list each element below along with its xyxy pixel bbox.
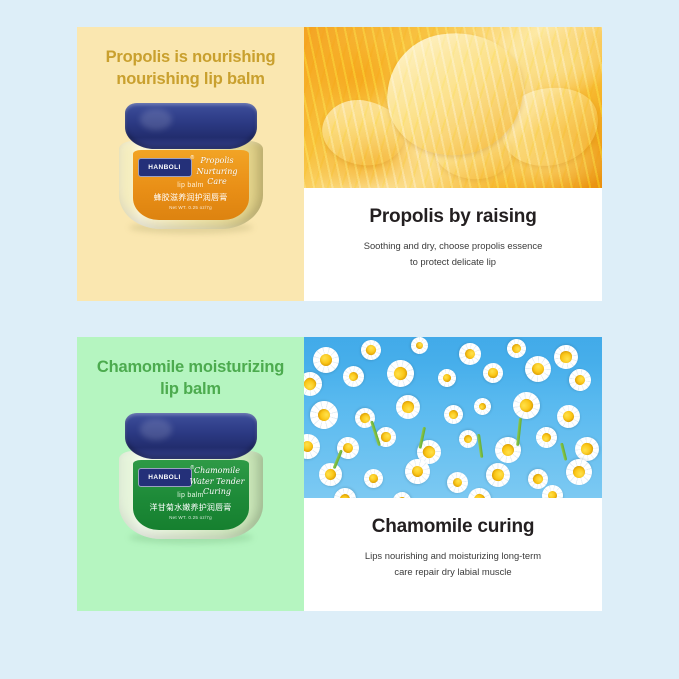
product-showcase-propolis: Propolis is nourishing nourishing lip ba… bbox=[77, 27, 304, 301]
caption-propolis: Propolis by raising Soothing and dry, ch… bbox=[304, 188, 602, 301]
daisy-center bbox=[487, 367, 498, 378]
script-line-1: Chamomile bbox=[190, 466, 245, 477]
daisy-flower bbox=[313, 347, 339, 373]
product-info-propolis: Propolis by raising Soothing and dry, ch… bbox=[304, 27, 602, 301]
chamomile-flowers-photo bbox=[304, 337, 602, 498]
script-line-2: Water Tender bbox=[190, 477, 245, 488]
net-weight-text: Net WT. 0.25 oz/7g bbox=[133, 205, 249, 210]
product-showcase-chamomile: Chamomile moisturizing lip balm HANBOLI … bbox=[77, 337, 304, 611]
daisy-center bbox=[368, 474, 378, 484]
daisy-flower bbox=[568, 368, 592, 392]
caption-body: Soothing and dry, choose propolis essenc… bbox=[341, 238, 566, 269]
honeycomb-texture bbox=[304, 27, 602, 188]
caption-body-line-1: Soothing and dry, choose propolis essenc… bbox=[341, 238, 566, 254]
daisy-flower bbox=[341, 364, 366, 389]
product-chinese-name: 洋甘菊水嫩养护润唇膏 bbox=[133, 502, 249, 513]
daisy-center bbox=[491, 468, 504, 481]
caption-title: Chamomile curing bbox=[372, 516, 535, 538]
product-jar-propolis: HANBOLI ® Propolis Nurturing Care lip ba… bbox=[115, 103, 267, 235]
brand-badge: HANBOLI bbox=[138, 158, 192, 177]
daisy-center bbox=[381, 432, 391, 442]
brand-name: HANBOLI bbox=[148, 164, 180, 171]
panel-heading-chamomile: Chamomile moisturizing lip balm bbox=[88, 357, 294, 401]
caption-body-line-2: to protect delicate lip bbox=[341, 254, 566, 270]
product-info-chamomile: Chamomile curing Lips nourishing and moi… bbox=[304, 337, 602, 611]
panel-heading-propolis: Propolis is nourishing nourishing lip ba… bbox=[88, 47, 294, 91]
jar-lid bbox=[125, 103, 257, 149]
caption-chamomile: Chamomile curing Lips nourishing and moi… bbox=[304, 498, 602, 611]
brand-name: HANBOLI bbox=[148, 474, 180, 481]
caption-title: Propolis by raising bbox=[369, 206, 536, 228]
product-chinese-name: 蜂胶滋养润护润唇膏 bbox=[133, 192, 249, 203]
product-panel-propolis: Propolis is nourishing nourishing lip ba… bbox=[77, 27, 602, 301]
product-type-label: lip balm bbox=[133, 492, 249, 499]
brand-badge: HANBOLI bbox=[138, 468, 192, 487]
daisy-flower bbox=[363, 468, 384, 489]
caption-body-line-1: Lips nourishing and moisturizing long-te… bbox=[341, 548, 566, 564]
honeycomb-photo bbox=[304, 27, 602, 188]
daisy-flower bbox=[481, 361, 504, 384]
jar-label: HANBOLI ® Propolis Nurturing Care lip ba… bbox=[133, 150, 249, 220]
jar-lid bbox=[125, 413, 257, 459]
daisy-center bbox=[320, 354, 332, 366]
daisy-flower bbox=[474, 398, 491, 415]
product-panel-chamomile: Chamomile moisturizing lip balm HANBOLI … bbox=[77, 337, 602, 611]
jar-label: HANBOLI ® Chamomile Water Tender Curing … bbox=[133, 460, 249, 530]
product-jar-chamomile: HANBOLI ® Chamomile Water Tender Curing … bbox=[115, 413, 267, 545]
daisy-center bbox=[560, 351, 572, 363]
product-infographic-page: Propolis is nourishing nourishing lip ba… bbox=[0, 0, 679, 679]
daisy-flower bbox=[566, 459, 593, 486]
caption-body: Lips nourishing and moisturizing long-te… bbox=[341, 548, 566, 579]
caption-body-line-2: care repair dry labial muscle bbox=[341, 564, 566, 580]
product-type-label: lip balm bbox=[133, 182, 249, 189]
daisy-center bbox=[581, 443, 594, 456]
daisy-flower bbox=[553, 344, 579, 370]
net-weight-text: Net WT. 0.25 oz/7g bbox=[133, 515, 249, 520]
script-line-1: Propolis bbox=[190, 156, 245, 167]
